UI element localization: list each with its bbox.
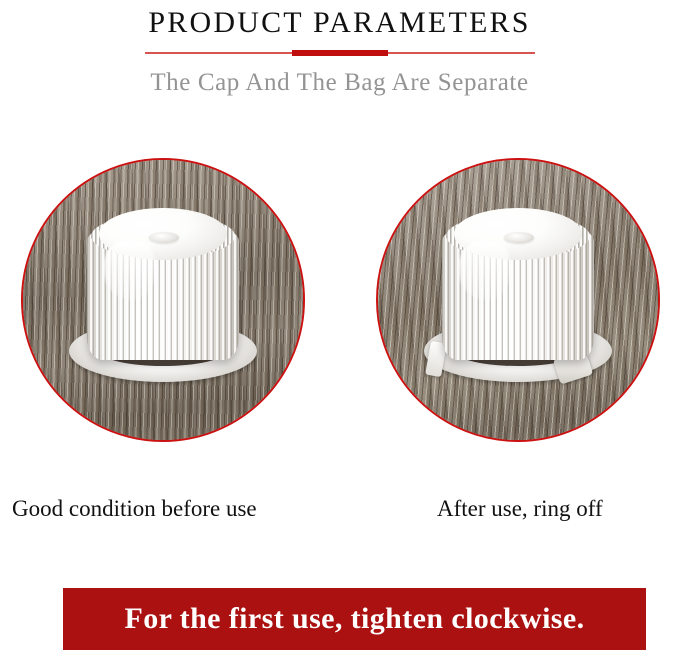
- photo-cell-cap-ring-off: [376, 158, 660, 442]
- divider-thick-accent: [292, 50, 388, 56]
- cap-gloss-highlight: [458, 240, 510, 300]
- photo-row: [0, 158, 679, 444]
- photo-cell-cap-intact: [21, 158, 305, 442]
- instruction-banner: For the first use, tighten clockwise.: [63, 588, 646, 650]
- plastic-cap-ring-off: [442, 206, 594, 382]
- page-subtitle: The Cap And The Bag Are Separate: [0, 67, 679, 99]
- title-divider: [145, 48, 535, 58]
- caption-cap-ring-off: After use, ring off: [437, 494, 603, 524]
- circle-photo-frame-left: [21, 158, 305, 442]
- cap-gloss-highlight: [103, 240, 155, 300]
- caption-row: Good condition before use After use, rin…: [0, 494, 679, 534]
- header: PRODUCT PARAMETERS The Cap And The Bag A…: [0, 0, 679, 99]
- circle-photo-frame-right: [376, 158, 660, 442]
- cap-top-nub: [504, 232, 534, 243]
- cap-top-nub: [149, 232, 179, 243]
- caption-cap-intact: Good condition before use: [12, 494, 257, 524]
- instruction-banner-text: For the first use, tighten clockwise.: [124, 601, 584, 637]
- plastic-cap-intact: [87, 206, 239, 382]
- page-title: PRODUCT PARAMETERS: [0, 4, 679, 42]
